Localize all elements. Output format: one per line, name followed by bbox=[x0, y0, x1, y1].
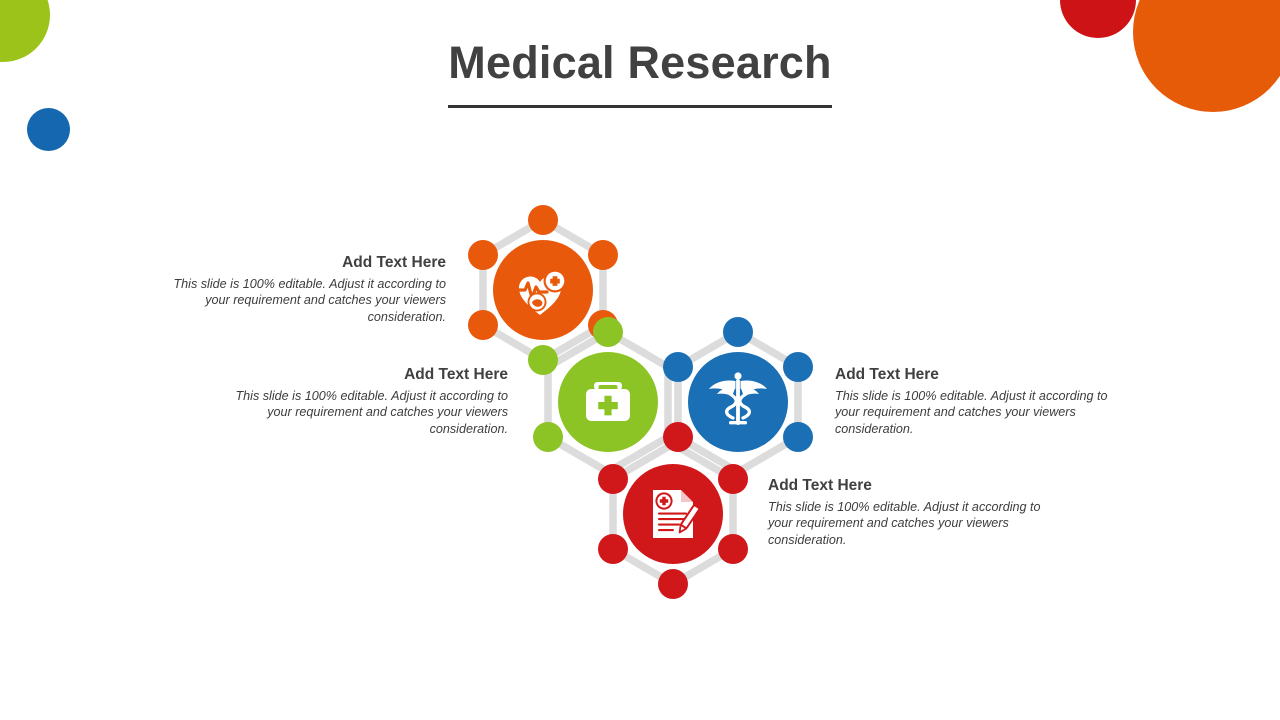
title-block: Medical Research bbox=[448, 38, 832, 108]
page-title: Medical Research bbox=[448, 38, 832, 88]
node-circle-green[interactable] bbox=[558, 352, 658, 452]
text-block-body: This slide is 100% editable. Adjust it a… bbox=[835, 388, 1117, 437]
title-divider bbox=[448, 105, 832, 108]
text-block-green: Add Text Here This slide is 100% editabl… bbox=[230, 365, 508, 437]
text-block-body: This slide is 100% editable. Adjust it a… bbox=[168, 276, 446, 325]
text-block-body: This slide is 100% editable. Adjust it a… bbox=[230, 388, 508, 437]
node-circle-blue[interactable] bbox=[688, 352, 788, 452]
text-block-heading: Add Text Here bbox=[768, 476, 1050, 496]
decorative-circle-blue bbox=[27, 108, 70, 151]
text-block-heading: Add Text Here bbox=[835, 365, 1117, 385]
node-circle-red[interactable] bbox=[623, 464, 723, 564]
text-block-orange: Add Text Here This slide is 100% editabl… bbox=[168, 253, 446, 325]
node-circle-orange[interactable] bbox=[493, 240, 593, 340]
text-block-body: This slide is 100% editable. Adjust it a… bbox=[768, 499, 1050, 548]
decorative-circle-orange bbox=[1133, 0, 1280, 112]
text-block-heading: Add Text Here bbox=[230, 365, 508, 385]
text-block-red: Add Text Here This slide is 100% editabl… bbox=[768, 476, 1050, 548]
text-block-blue: Add Text Here This slide is 100% editabl… bbox=[835, 365, 1117, 437]
text-block-heading: Add Text Here bbox=[168, 253, 446, 273]
decorative-circle-red bbox=[1060, 0, 1136, 38]
decorative-circle-green bbox=[0, 0, 50, 62]
